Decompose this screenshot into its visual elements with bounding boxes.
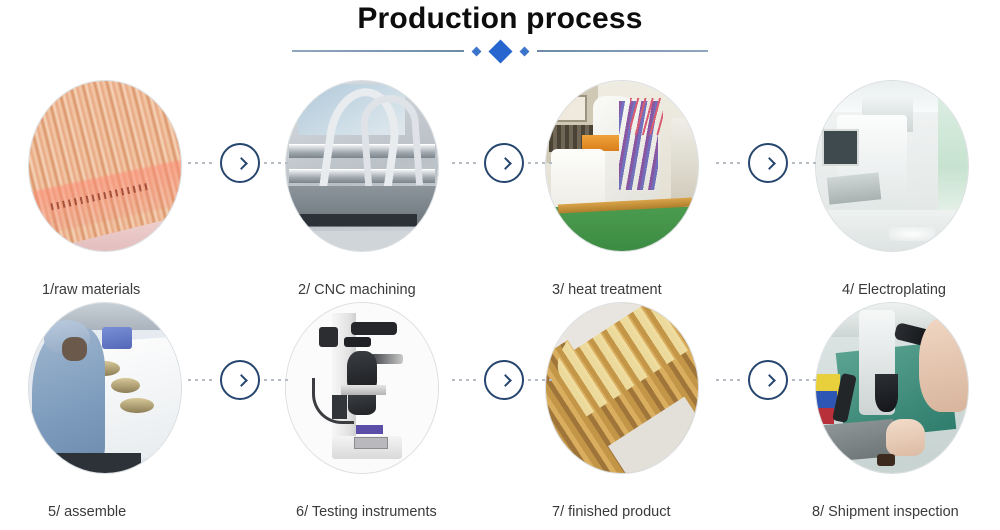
connector-dotted-line-left	[188, 162, 216, 164]
step-label-4: 4/ Electroplating	[750, 282, 1000, 298]
cnc-machine-photo	[286, 81, 438, 251]
copper-rods-photo	[29, 81, 181, 251]
connector-dotted-line-right	[792, 379, 820, 381]
process-row-bottom: 5/ assemble	[0, 300, 1000, 520]
step-connector-2-3	[452, 141, 556, 185]
chevron-right-icon[interactable]	[748, 360, 788, 400]
divider-line-right	[537, 50, 709, 52]
connector-dotted-line-right	[528, 162, 556, 164]
microscope-inspection-photo	[816, 303, 968, 473]
divider-line-left	[292, 50, 464, 52]
step-connector-1-2	[188, 141, 292, 185]
step-card-5[interactable]: 5/ assemble	[0, 300, 250, 520]
title-divider	[292, 42, 708, 60]
connector-dotted-line-left	[188, 379, 216, 381]
step-label-6: 6/ Testing instruments	[250, 504, 500, 520]
step-label-3: 3/ heat treatment	[500, 282, 750, 298]
page-title: Production process	[0, 2, 1000, 36]
heat-treatment-furnace-photo	[546, 81, 698, 251]
connector-dotted-line-right	[264, 379, 292, 381]
step-connector-5-6	[188, 358, 292, 402]
step-label-2: 2/ CNC machining	[250, 282, 500, 298]
divider-diamond-small-left	[471, 46, 481, 56]
connector-dotted-line-right	[528, 379, 556, 381]
step-card-8[interactable]: 8/ Shipment inspection	[750, 300, 1000, 520]
electroplating-line-photo	[816, 81, 968, 251]
step-card-2[interactable]: 2/ CNC machining	[250, 78, 500, 298]
connector-dotted-line-right	[264, 162, 292, 164]
step-label-1: 1/raw materials	[0, 282, 250, 298]
hardness-tester-photo	[286, 303, 438, 473]
step-label-5: 5/ assemble	[0, 504, 250, 520]
chevron-right-icon[interactable]	[484, 143, 524, 183]
connector-dotted-line-left	[716, 379, 744, 381]
chevron-right-icon[interactable]	[748, 143, 788, 183]
finished-brass-rods-photo	[546, 303, 698, 473]
step-card-3[interactable]: 3/ heat treatment	[500, 78, 750, 298]
step-connector-6-7	[452, 358, 556, 402]
chevron-right-icon[interactable]	[220, 360, 260, 400]
connector-dotted-line-left	[452, 162, 480, 164]
step-card-7[interactable]: 7/ finished product	[500, 300, 750, 520]
chevron-right-icon[interactable]	[484, 360, 524, 400]
production-process-infographic: Production process 1/raw materials	[0, 0, 1000, 530]
chevron-right-icon[interactable]	[220, 143, 260, 183]
step-connector-7-8	[716, 358, 820, 402]
connector-dotted-line-right	[792, 162, 820, 164]
process-row-top: 1/raw materials 2/ CNC machining	[0, 78, 1000, 298]
step-card-1[interactable]: 1/raw materials	[0, 78, 250, 298]
connector-dotted-line-left	[716, 162, 744, 164]
assembly-worker-photo	[29, 303, 181, 473]
step-card-4[interactable]: 4/ Electroplating	[750, 78, 1000, 298]
connector-dotted-line-left	[452, 379, 480, 381]
divider-diamond-small-right	[519, 46, 529, 56]
step-label-8: 8/ Shipment inspection	[750, 504, 1000, 520]
step-connector-3-4	[716, 141, 820, 185]
divider-diamond-center	[488, 39, 512, 63]
step-label-7: 7/ finished product	[500, 504, 750, 520]
step-card-6[interactable]: 6/ Testing instruments	[250, 300, 500, 520]
